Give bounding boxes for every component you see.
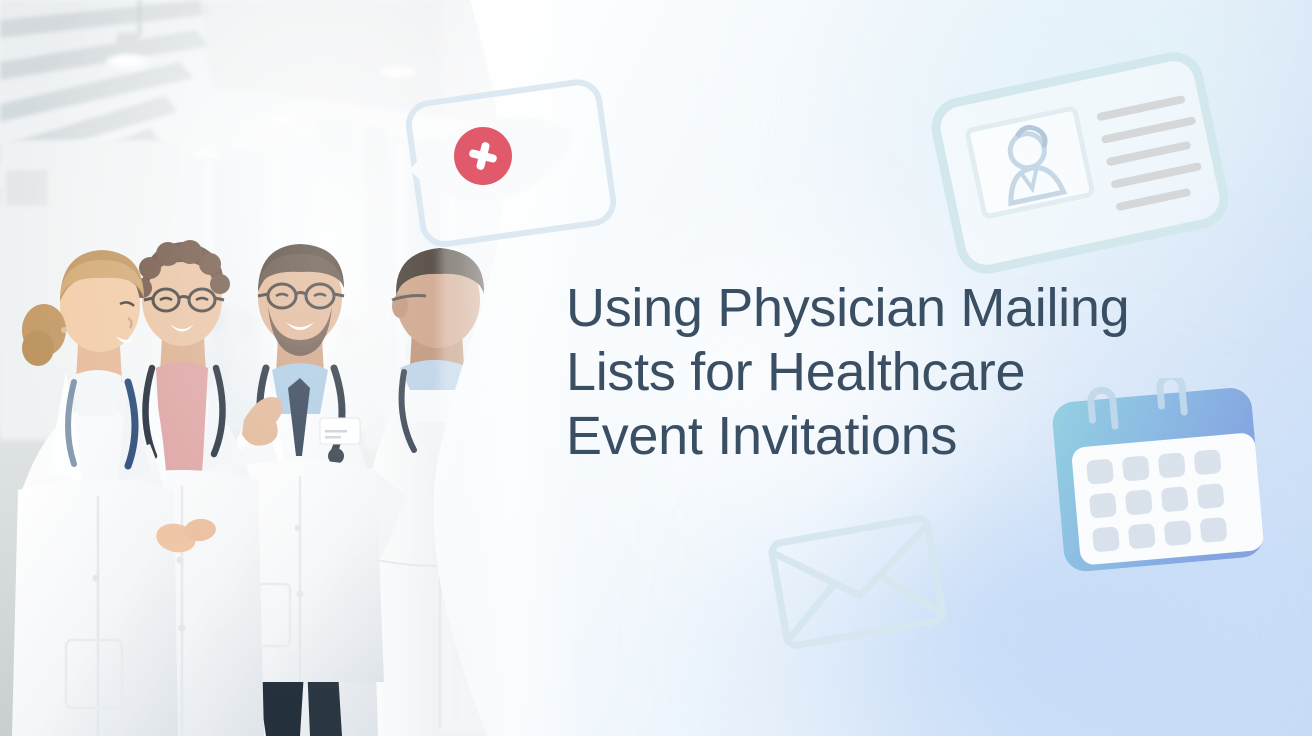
envelope-icon bbox=[762, 508, 952, 653]
title-line-1: Using Physician Mailing bbox=[566, 276, 1146, 340]
hero-photo bbox=[0, 0, 520, 736]
title-line-2: Lists for Healthcare bbox=[566, 340, 1146, 404]
title-line-3: Event Invitations bbox=[566, 404, 1146, 468]
id-card-icon bbox=[920, 48, 1240, 278]
hero-banner: Using Physician Mailing Lists for Health… bbox=[0, 0, 1312, 736]
doctors-photo-illustration bbox=[0, 0, 520, 736]
page-title: Using Physician Mailing Lists for Health… bbox=[566, 276, 1146, 468]
hero-heading: Using Physician Mailing Lists for Health… bbox=[566, 276, 1146, 468]
teal-gradient-wash bbox=[812, 0, 1312, 300]
